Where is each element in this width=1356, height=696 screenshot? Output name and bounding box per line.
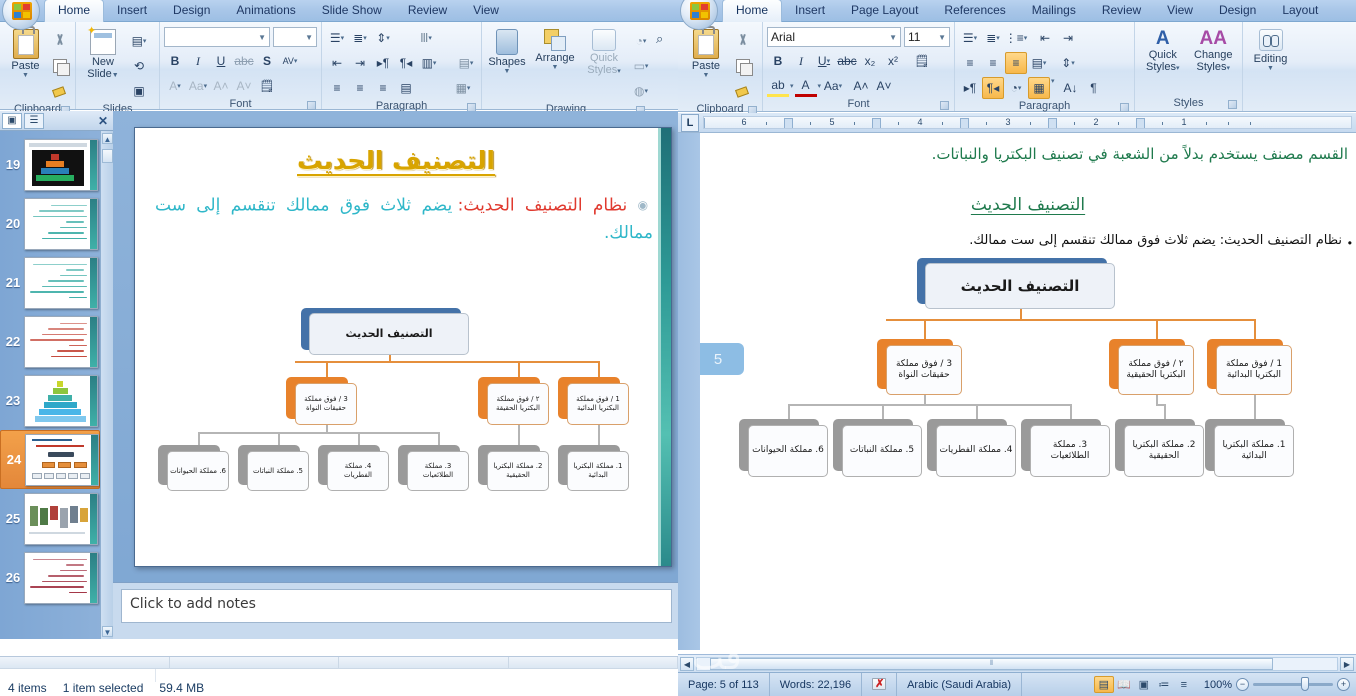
- slides-tab-button[interactable]: ▣: [2, 113, 22, 129]
- tab-home[interactable]: Home: [722, 0, 782, 22]
- diagram-l2-node-3[interactable]: 3 / فوق مملكة حقيقات النواة: [295, 383, 357, 425]
- slide-thumbnail-pane: ▣ ☰ ✕ 1920212223242526 ▲ ▼: [0, 111, 113, 639]
- word-smartart-diagram[interactable]: التصنيف الحديث1 / فوق مملكة البكتريا الب…: [700, 263, 1356, 473]
- thumbnail-number: 24: [3, 452, 25, 467]
- group-editing: Editing ▼ Editing: [1242, 22, 1298, 111]
- ppt-ribbon-tabstrip: Home Insert Design Animations Slide Show…: [0, 0, 678, 22]
- layout-button[interactable]: ▤▾: [128, 30, 150, 52]
- shapes-button[interactable]: Shapes▼: [486, 27, 528, 75]
- doc-line-2: نظام التصنيف الحديث: يضم ثلاث فوق ممالك …: [720, 233, 1342, 248]
- word-horizontal-scrollbar[interactable]: ◀ ⦀ ▶: [678, 654, 1356, 672]
- ruler-tick: [854, 122, 855, 125]
- word-page[interactable]: القسم مصنف يستخدم بدلاً من الشعبة في تصن…: [700, 133, 1356, 650]
- thumbnail-preview[interactable]: [25, 434, 99, 486]
- diagram-l3-node-6[interactable]: 6. مملكة الحيوانات: [748, 425, 828, 477]
- diagram-connector-l3-group-bar: [198, 432, 438, 434]
- powerpoint-window: Home Insert Design Animations Slide Show…: [0, 0, 678, 696]
- change-styles-button[interactable]: AA Change Styles▾: [1189, 27, 1238, 73]
- thumbnail-slide-22[interactable]: 22: [0, 312, 100, 371]
- increase-font-size-button[interactable]: A˄: [210, 75, 232, 97]
- office-logo-icon: [690, 2, 710, 20]
- word-tabs: Home Insert Page Layout References Maili…: [722, 0, 1331, 22]
- copy-button[interactable]: [732, 55, 754, 77]
- diagram-l2-node-3[interactable]: 3 / فوق مملكة حقيقات النواة: [886, 345, 962, 395]
- diagram-root-node[interactable]: التصنيف الحديث: [925, 263, 1115, 309]
- slide-bullet-red: نظام التصنيف الحديث:: [458, 196, 628, 216]
- paste-button[interactable]: Paste ▼: [682, 27, 730, 79]
- thumbnail-preview[interactable]: [24, 493, 98, 545]
- align-right-button[interactable]: ≡: [372, 77, 394, 99]
- status-page[interactable]: Page: 5 of 113: [678, 673, 770, 696]
- word-ribbon-tabstrip: Home Insert Page Layout References Maili…: [678, 0, 1356, 22]
- superscript-button[interactable]: x²: [882, 50, 904, 72]
- thumbnail-slide-19[interactable]: 19: [0, 135, 100, 194]
- binoculars-icon: [1259, 29, 1283, 51]
- explorer-col-2[interactable]: [170, 657, 340, 668]
- explorer-selection: 1 item selected: [63, 681, 144, 695]
- diagram-connector-l2down-1: [598, 425, 600, 432]
- thumbnail-number: 26: [2, 570, 24, 585]
- align-text-button[interactable]: ▤▾: [455, 52, 477, 74]
- diagram-l3-node-5[interactable]: 5. مملكة النباتات: [842, 425, 922, 477]
- new-slide-icon: [90, 29, 116, 55]
- tab-stop-selector-icon[interactable]: L: [681, 114, 699, 132]
- chevron-down-icon: ▼: [938, 33, 946, 42]
- editing-label: Editing: [1254, 53, 1288, 65]
- chevron-down-icon[interactable]: ▼: [112, 72, 119, 79]
- thumbnail-slide-25[interactable]: 25: [0, 489, 100, 548]
- font-name-value: Arial: [771, 30, 795, 44]
- diagram-l3-node-3[interactable]: 3. مملكة الطلائعيات: [407, 451, 469, 491]
- strikethrough-button[interactable]: abc: [233, 50, 255, 72]
- ltr-button[interactable]: ▸¶: [959, 77, 981, 99]
- thumbnail-theme-edge: [90, 376, 97, 426]
- ruler-number: 4: [917, 117, 922, 127]
- diagram-connector-l3-bridge-2: [1156, 404, 1164, 406]
- group-paragraph: ☰▾ ≣▾ ⇕▾ Ⅲ▾ ⇤ ⇥ ▸¶ ¶◂ ▥▾ ▤▾ ≡ ≡ ≡: [321, 22, 481, 109]
- ruler-tick: [810, 122, 811, 125]
- ruler-indent-marker[interactable]: [1048, 118, 1057, 129]
- quick-styles-label: Quick Styles: [1146, 49, 1177, 73]
- font-name-combo[interactable]: Arial ▼: [767, 27, 901, 47]
- slide-title[interactable]: التصنيف الحديث: [135, 146, 657, 175]
- thumbnail-list[interactable]: 1920212223242526: [0, 131, 100, 639]
- align-center-button[interactable]: ≡: [982, 52, 1004, 74]
- thumbnail-preview[interactable]: [24, 139, 98, 191]
- quick-styles-label: Quick Styles: [587, 52, 618, 76]
- arrange-label: Arrange: [535, 52, 574, 64]
- group-clipboard: Paste ▼ Clipboard: [0, 22, 75, 109]
- thumbnail-preview[interactable]: [24, 552, 98, 604]
- editing-button[interactable]: Editing ▼: [1247, 27, 1294, 72]
- zoom-slider[interactable]: [1253, 683, 1333, 686]
- ruler-indent-marker[interactable]: [703, 118, 705, 129]
- ruler-tick: [1228, 122, 1229, 125]
- font-color-button[interactable]: A: [795, 75, 817, 97]
- diagram-l3-node-2[interactable]: 2. مملكة البكتريا الحقيقية: [487, 451, 549, 491]
- tab-home[interactable]: Home: [44, 0, 104, 22]
- format-painter-button[interactable]: [732, 80, 754, 102]
- arrange-button[interactable]: Arrange▼: [532, 27, 578, 71]
- office-logo-icon: [12, 2, 32, 20]
- diagram-l3-node-2[interactable]: 2. مملكة البكتريا الحقيقية: [1124, 425, 1204, 477]
- bold-button[interactable]: B: [164, 50, 186, 72]
- ruler-indent-marker[interactable]: [872, 118, 881, 129]
- zoom-in-icon[interactable]: +: [1337, 678, 1350, 691]
- scroll-down-icon[interactable]: ▼: [102, 626, 113, 637]
- copy-icon: [53, 59, 67, 73]
- diagram-l2-node-1[interactable]: 1 / فوق مملكة البكتريا البدائية: [1216, 345, 1292, 395]
- diagram-root-node[interactable]: التصنيف الحديث: [309, 313, 469, 355]
- group-styles: A Quick Styles▾ AA Change Styles▾ Styles: [1134, 22, 1242, 111]
- paragraph-dialog-launcher-icon[interactable]: [1120, 103, 1129, 112]
- notes-placeholder[interactable]: Click to add notes: [121, 589, 672, 623]
- scroll-up-icon[interactable]: ▲: [102, 133, 113, 144]
- zoom-control[interactable]: 100% − +: [1198, 678, 1356, 691]
- borders-button[interactable]: ▦: [1028, 77, 1050, 99]
- word-ribbon-body: Paste ▼ Clipboard Arial ▼: [678, 22, 1356, 112]
- shape-fill-button[interactable]: ◔▾: [630, 30, 652, 52]
- thumbnail-slide-20[interactable]: 20: [0, 194, 100, 253]
- hscroll-track[interactable]: ⦀: [696, 657, 1338, 671]
- font-dialog-launcher-icon[interactable]: [940, 101, 949, 110]
- subscript-button[interactable]: x₂: [859, 50, 881, 72]
- align-center-button[interactable]: ≡: [349, 77, 371, 99]
- thumbnail-number: 19: [2, 157, 24, 172]
- scroll-left-icon[interactable]: ◀: [680, 657, 694, 671]
- format-painter-button[interactable]: [49, 80, 71, 102]
- styles-dialog-launcher-icon[interactable]: [1228, 100, 1237, 109]
- explorer-divider: [155, 669, 156, 682]
- word-status-bar: Page: 5 of 113 Words: 22,196 Arabic (Sau…: [678, 672, 1356, 696]
- strikethrough-button[interactable]: abc: [836, 50, 858, 72]
- diagram-connector-l2down-2: [1156, 395, 1158, 404]
- cut-button[interactable]: [732, 30, 754, 52]
- diagram-connector-root-stem: [389, 355, 391, 361]
- diagram-l3-node-3[interactable]: 3. مملكة الطلائعيات: [1030, 425, 1110, 477]
- justify-button[interactable]: ▤▾: [1028, 52, 1050, 74]
- tab-view[interactable]: View: [1154, 0, 1206, 22]
- ruler-number: 3: [1005, 117, 1010, 127]
- shape-outline-button[interactable]: ▭▾: [630, 55, 652, 77]
- decrease-indent-button[interactable]: ⇤: [1034, 27, 1056, 49]
- bullets-button[interactable]: ☰▾: [959, 27, 981, 49]
- ruler-tick: [986, 122, 987, 125]
- thumbnail-number: 25: [2, 511, 24, 526]
- slide-smartart-diagram[interactable]: التصنيف الحديث1 / فوق مملكة البكتريا الب…: [135, 313, 659, 463]
- line-spacing-button[interactable]: ⇕▾: [372, 27, 394, 49]
- bold-button[interactable]: B: [767, 50, 789, 72]
- outline-tab-button[interactable]: ☰: [24, 113, 44, 129]
- quick-styles-icon: [592, 29, 616, 51]
- thumbnail-slide-23[interactable]: 23: [0, 371, 100, 430]
- chevron-down-icon: ▼: [305, 33, 313, 42]
- bullet-marker-icon: ◉: [638, 198, 653, 212]
- thumbnail-slide-26[interactable]: 26: [0, 548, 100, 607]
- slide-editing-area[interactable]: التصنيف الحديث ◉ نظام التصنيف الحديث: يض…: [113, 111, 678, 639]
- increase-indent-button[interactable]: ⇥: [1057, 27, 1079, 49]
- tab-design[interactable]: Design: [160, 0, 223, 22]
- diagram-l3-node-6[interactable]: 6. مملكة الحيوانات: [167, 451, 229, 491]
- thumbnail-preview[interactable]: [24, 375, 98, 427]
- grow-font-button[interactable]: A˄: [850, 75, 872, 97]
- file-explorer-status-strip: 4 items 1 item selected 59.4 MB: [0, 656, 678, 696]
- thumbnail-theme-edge: [90, 553, 97, 603]
- tab-review[interactable]: Review: [395, 0, 460, 22]
- web-layout-view-icon[interactable]: ▣: [1134, 676, 1154, 693]
- status-words[interactable]: Words: 22,196: [770, 673, 862, 696]
- diagram-l3-node-1[interactable]: 1. مملكة البكتريا البدائية: [567, 451, 629, 491]
- underline-button[interactable]: U: [210, 50, 232, 72]
- paintbrush-icon: [736, 85, 751, 98]
- text-direction-button[interactable]: Ⅲ▾: [415, 27, 437, 49]
- diagram-connector-l2down-3: [924, 395, 926, 404]
- zoom-level: 100%: [1204, 679, 1232, 691]
- delete-slide-button[interactable]: ▣: [128, 80, 150, 102]
- ppt-ribbon-body: Paste ▼ Clipboard New Slide▼: [0, 22, 678, 110]
- ruler-tick: [898, 122, 899, 125]
- word-ruler[interactable]: L 654321: [678, 113, 1356, 133]
- clear-formatting-button[interactable]: 🗒: [911, 50, 933, 72]
- ppt-workspace: ▣ ☰ ✕ 1920212223242526 ▲ ▼ التصنيف الحدي…: [0, 111, 678, 639]
- diagram-l3-node-4[interactable]: 4. مملكة الفطريات: [936, 425, 1016, 477]
- copy-button[interactable]: [49, 55, 71, 77]
- decrease-indent-button[interactable]: ⇤: [326, 52, 348, 74]
- chevron-down-icon: ▼: [258, 33, 266, 42]
- diagram-connector-horizontal-top: [886, 319, 1254, 321]
- thumbnail-theme-edge: [90, 199, 97, 249]
- zoom-out-icon[interactable]: −: [1236, 678, 1249, 691]
- thumbnail-theme-edge: [90, 258, 97, 308]
- cut-button[interactable]: [49, 30, 71, 52]
- tab-view[interactable]: View: [460, 0, 512, 22]
- scrollbar-thumb[interactable]: [102, 149, 113, 163]
- explorer-column-headers[interactable]: [0, 657, 678, 669]
- thumbnail-number: 22: [2, 334, 24, 349]
- close-pane-icon[interactable]: ✕: [98, 114, 108, 128]
- font-size-combo[interactable]: 11 ▼: [904, 27, 950, 47]
- thumbnail-number: 21: [2, 275, 24, 290]
- thumbnail-preview[interactable]: [24, 316, 98, 368]
- zoom-slider-knob[interactable]: [1301, 677, 1309, 691]
- group-styles-title: Styles: [1139, 96, 1238, 111]
- ruler-number: 6: [741, 117, 746, 127]
- ruler-number: 2: [1093, 117, 1098, 127]
- full-screen-reading-view-icon[interactable]: 📖: [1114, 676, 1134, 693]
- ruler-track[interactable]: 654321: [703, 116, 1352, 129]
- change-styles-icon: AA: [1189, 29, 1238, 48]
- doc-heading: التصنيف الحديث: [700, 195, 1356, 215]
- word-window: Home Insert Page Layout References Maili…: [678, 0, 1356, 696]
- paintbrush-icon: [53, 85, 68, 98]
- tab-page-layout[interactable]: Page Layout: [838, 0, 931, 22]
- diagram-connector-l2down-2: [518, 425, 520, 432]
- ruler-tick: [1206, 122, 1207, 125]
- thumbnail-theme-edge: [90, 317, 97, 367]
- character-spacing-button[interactable]: AV▾: [279, 50, 301, 72]
- tab-review[interactable]: Review: [1089, 0, 1154, 22]
- shrink-font-button[interactable]: A˅: [873, 75, 895, 97]
- explorer-status-text: 4 items 1 item selected 59.4 MB: [0, 669, 678, 695]
- chevron-down-icon[interactable]: ▼: [682, 72, 730, 79]
- thumbnail-number: 23: [2, 393, 24, 408]
- paste-label: Paste: [11, 60, 39, 72]
- text-highlight-color-button[interactable]: ab: [767, 75, 789, 97]
- numbering-button[interactable]: ≣▾: [349, 27, 371, 49]
- outline-view-icon[interactable]: ≔: [1154, 676, 1174, 693]
- diagram-connector-root-stem: [1020, 309, 1022, 319]
- font-size-combo[interactable]: ▼: [273, 27, 317, 47]
- increase-indent-button[interactable]: ⇥: [349, 52, 371, 74]
- underline-button[interactable]: U▾: [813, 50, 835, 72]
- tab-references[interactable]: References: [931, 0, 1018, 22]
- status-language[interactable]: Arabic (Saudi Arabia): [897, 673, 1022, 696]
- quick-styles-icon: A: [1139, 29, 1187, 48]
- group-font-title: Font: [767, 97, 950, 112]
- numbering-button[interactable]: ≣▾: [982, 27, 1004, 49]
- word-left-margin-band: [678, 133, 700, 650]
- diagram-connector-horizontal-top: [295, 361, 598, 363]
- align-left-button[interactable]: ≡: [326, 77, 348, 99]
- ppt-tabs: Home Insert Design Animations Slide Show…: [44, 0, 512, 22]
- status-proofing[interactable]: [862, 673, 897, 696]
- ruler-tick: [766, 122, 767, 125]
- diagram-l3-node-1[interactable]: 1. مملكة البكتريا البدائية: [1214, 425, 1294, 477]
- paste-label: Paste: [692, 60, 720, 72]
- ruler-tick: [1162, 122, 1163, 125]
- ruler-indent-marker[interactable]: [960, 118, 969, 129]
- doc-line-1: القسم مصنف يستخدم بدلاً من الشعبة في تصن…: [720, 145, 1348, 163]
- group-font: Arial ▼ 11 ▼ B I U▾ abc x₂ x² 🗒: [762, 22, 954, 111]
- explorer-size: 59.4 MB: [159, 681, 204, 695]
- chevron-down-icon: ▼: [889, 33, 897, 42]
- tab-insert[interactable]: Insert: [104, 0, 160, 22]
- thumbnail-slide-21[interactable]: 21: [0, 253, 100, 312]
- arrange-icon: [544, 29, 566, 51]
- thumbnail-number: 20: [2, 216, 24, 231]
- diagram-l3-node-5[interactable]: 5. مملكة النباتات: [247, 451, 309, 491]
- diagram-connector-l2down-3: [326, 425, 328, 432]
- diagram-l2-node-1[interactable]: 1 / فوق مملكة البكتريا البدائية: [567, 383, 629, 425]
- slide-bullet-text[interactable]: ◉ نظام التصنيف الحديث: يضم ثلاث فوق ممال…: [155, 192, 653, 247]
- justify-button[interactable]: ▤: [395, 77, 417, 99]
- diagram-l2-node-2[interactable]: ٢ / فوق مملكة البكتريا الحقيقة: [487, 383, 549, 425]
- align-right-button[interactable]: ≡: [1005, 52, 1027, 74]
- spellcheck-icon: [872, 678, 886, 691]
- ruler-number: 5: [829, 117, 834, 127]
- tab-animations[interactable]: Animations: [223, 0, 308, 22]
- rtl-button[interactable]: ¶◂: [982, 77, 1004, 99]
- explorer-col-3[interactable]: [339, 657, 509, 668]
- thumbnail-theme-edge: [90, 494, 97, 544]
- ruler-tick: [1250, 122, 1251, 125]
- copy-icon: [736, 59, 750, 73]
- thumbnail-preview[interactable]: [24, 198, 98, 250]
- shapes-label: Shapes: [488, 56, 525, 68]
- thumbpane-scrollbar[interactable]: ▲ ▼: [100, 131, 113, 639]
- diagram-connector-l2down-1: [1254, 395, 1256, 404]
- show-formatting-marks-button[interactable]: ¶: [1083, 77, 1105, 99]
- shapes-icon: [496, 29, 518, 55]
- ruler-indent-marker[interactable]: [784, 118, 793, 129]
- tab-slide-show[interactable]: Slide Show: [309, 0, 395, 22]
- shading-button[interactable]: ◔▾: [1005, 77, 1027, 99]
- notes-pane[interactable]: Click to add notes: [113, 582, 678, 639]
- bullets-button[interactable]: ☰▾: [326, 27, 348, 49]
- hscroll-thumb[interactable]: ⦀: [710, 658, 1273, 670]
- columns-button[interactable]: ▥▾: [418, 52, 440, 74]
- line-spacing-button[interactable]: ⇕▾: [1057, 52, 1079, 74]
- find-button-partial[interactable]: ⌕: [656, 27, 663, 47]
- italic-button[interactable]: I: [790, 50, 812, 72]
- new-slide-button[interactable]: New Slide▼: [80, 27, 126, 80]
- shadow-button[interactable]: S: [256, 50, 278, 72]
- quick-styles-button[interactable]: A Quick Styles▾: [1139, 27, 1187, 73]
- scissors-icon: [53, 34, 67, 48]
- explorer-item-count: 4 items: [8, 681, 47, 695]
- clipboard-icon: [13, 29, 39, 59]
- explorer-col-4[interactable]: [509, 657, 679, 668]
- chevron-down-icon[interactable]: ▼: [4, 72, 47, 79]
- decrease-font-size-button[interactable]: A˅: [233, 75, 255, 97]
- tab-mailings[interactable]: Mailings: [1019, 0, 1089, 22]
- diagram-l3-node-4[interactable]: 4. مملكة الفطريات: [327, 451, 389, 491]
- thumbnail-preview[interactable]: [24, 257, 98, 309]
- group-paragraph-title: Paragraph: [959, 99, 1130, 114]
- align-left-button[interactable]: ≡: [959, 52, 981, 74]
- print-layout-view-icon[interactable]: ▤: [1094, 676, 1114, 693]
- multilevel-list-button[interactable]: ⋮≡▾: [1005, 27, 1027, 49]
- group-font: ▼ ▼ B I U abc S AV▾ A▾ Aa▾ A˄ A˅ 🗒: [159, 22, 321, 109]
- group-clipboard: Paste ▼ Clipboard: [678, 22, 762, 111]
- shape-effects-button[interactable]: ◍▾: [630, 80, 652, 102]
- font-dialog-launcher-icon[interactable]: [307, 101, 316, 110]
- thumbnail-theme-edge: [90, 140, 97, 190]
- tab-design[interactable]: Design: [1206, 0, 1269, 22]
- group-slides: New Slide▼ ▤▾ ⟲ ▣ Slides: [75, 22, 159, 109]
- tab-layout[interactable]: Layout: [1269, 0, 1331, 22]
- ruler-indent-marker[interactable]: [1136, 118, 1145, 129]
- ltr-button[interactable]: ▸¶: [372, 52, 394, 74]
- explorer-col-1[interactable]: [0, 657, 170, 668]
- draft-view-icon[interactable]: ≡: [1174, 676, 1194, 693]
- ruler-tick: [1074, 122, 1075, 125]
- clear-formatting-button[interactable]: 🗒: [256, 75, 278, 97]
- doc-bullet-marker-icon: •: [1348, 236, 1352, 250]
- italic-button[interactable]: I: [187, 50, 209, 72]
- thumbnail-slide-24[interactable]: 24: [0, 430, 100, 489]
- quick-styles-button[interactable]: Quick Styles▾: [582, 27, 626, 76]
- scroll-right-icon[interactable]: ▶: [1340, 657, 1354, 671]
- paste-button[interactable]: Paste ▼: [4, 27, 47, 79]
- diagram-l2-node-2[interactable]: ٢ / فوق مملكة البكتريا الحقيقية: [1118, 345, 1194, 395]
- tab-insert[interactable]: Insert: [782, 0, 838, 22]
- ruler-tick: [1118, 122, 1119, 125]
- rtl-button[interactable]: ¶◂: [395, 52, 417, 74]
- sort-button[interactable]: A↓: [1060, 77, 1082, 99]
- current-slide[interactable]: التصنيف الحديث ◉ نظام التصنيف الحديث: يض…: [134, 127, 672, 567]
- reset-button[interactable]: ⟲: [128, 55, 150, 77]
- group-drawing: Shapes▼ Arrange▼ Quick Styles▾ ◔▾ ▭▾ ◍▾ …: [481, 22, 678, 109]
- change-case-button[interactable]: Aa▾: [187, 75, 209, 97]
- thumbnail-theme-edge: [91, 435, 98, 485]
- view-buttons: ▤ 📖 ▣ ≔ ≡: [1094, 676, 1198, 693]
- font-color-button[interactable]: A▾: [164, 75, 186, 97]
- change-case-button[interactable]: Aa▾: [822, 75, 844, 97]
- font-name-combo[interactable]: ▼: [164, 27, 270, 47]
- convert-to-smartart-button[interactable]: ▦▾: [452, 77, 474, 99]
- new-slide-label: New Slide: [87, 56, 114, 80]
